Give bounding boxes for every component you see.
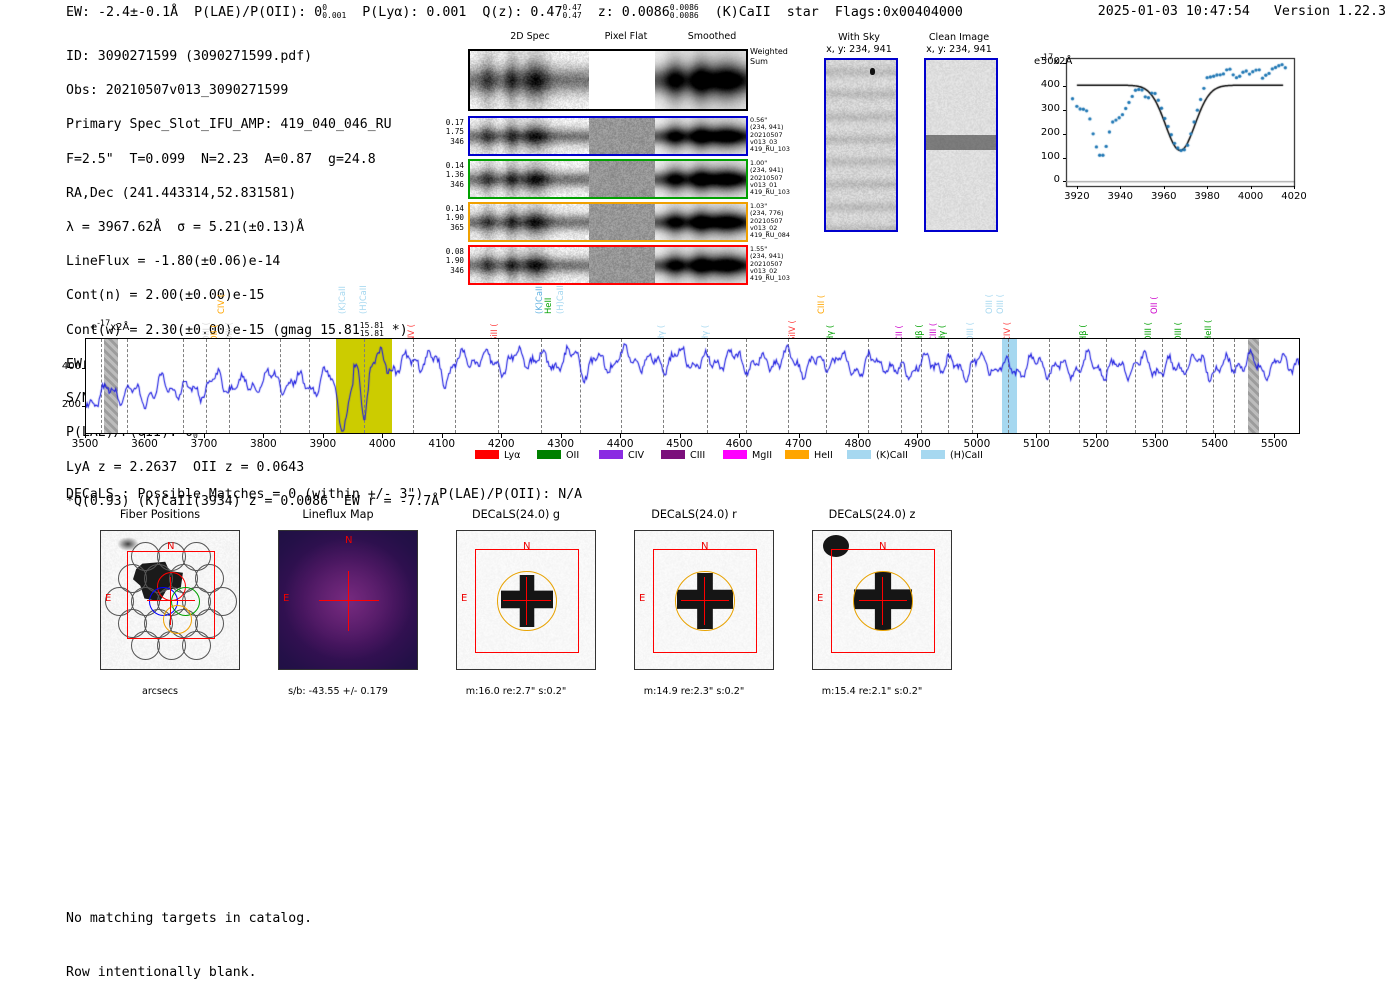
cutout-caption: arcsecs [62,686,258,697]
spec2d-weighted-sum-label: Weighted Sum [750,47,788,67]
spectrum-line-label: (K)CaII [337,286,347,314]
compass-east-label: E [817,593,823,604]
spectrum-axes [85,338,1300,434]
spec2d-panel-metrics: 0.141.36346 [438,161,464,189]
header-timestamp: 2025-01-03 10:47:54 [1098,4,1250,19]
header-z-fraction: 0.00860.0086 [670,4,699,20]
spectrum-y-tick: 200 [51,399,81,410]
spectrum-trace-canvas [86,339,1299,433]
legend-item: HeII [785,450,833,461]
header-line-id: (K)CaII [715,5,771,20]
fit-plot-x-tickmark [1120,186,1121,189]
spectrum-x-tickmark [739,434,740,438]
line-fit-plot: e-17x2Å 01002003004005003920394039603980… [1028,52,1300,212]
cutout-title: Lineflux Map [240,508,436,521]
fit-plot-x-tick: 3980 [1194,191,1219,202]
compass-north-label: N [701,541,708,552]
spec2d-metric-value: 0.17 [438,118,464,127]
crosshair-vertical [704,577,705,625]
fit-plot-y-tickmark [1063,63,1066,64]
spectrum-x-tickmark [204,434,205,438]
spec2d-metric-value: 1.36 [438,170,464,179]
cutout-image: NE-4-4-2-2002244 [456,530,596,670]
fit-plot-y-tick: 500 [1030,56,1060,67]
spectrum-y-tick: 400 [51,361,81,372]
spectrum-units-annotation: e-17x2Å [91,322,129,333]
legend-swatch [723,450,747,459]
fit-plot-x-tick: 3960 [1151,191,1176,202]
legend-swatch [475,450,499,459]
crosshair-horizontal [503,600,551,601]
compass-north-label: N [345,535,352,546]
spec2d-col-title-pixelflat: Pixel Flat [578,31,674,42]
fit-plot-x-tick: 4000 [1238,191,1263,202]
spectrum-line-label: HeII [543,298,553,314]
cutout-title: DECaLS(24.0) g [418,508,614,521]
footer-line-2: Row intentionally blank. [66,964,312,982]
spectrum-line-label: CIV ( [216,294,226,314]
spec2d-panel-metrics: 0.141.90365 [438,204,464,232]
fit-plot-y-tick: 300 [1030,103,1060,114]
footprint-rect [653,549,757,653]
legend-swatch [661,450,685,459]
crosshair-horizontal [147,600,195,601]
fit-plot-y-tick: 400 [1030,79,1060,90]
spectrum-x-tick: 4900 [904,438,931,450]
compass-east-label: E [283,593,289,604]
spectrum-x-tickmark [1215,434,1216,438]
footer-note: No matching targets in catalog. Row inte… [66,874,312,1000]
legend-item: (H)CaII [921,450,983,461]
spectrum-x-tick: 5200 [1082,438,1109,450]
info-seeing-throughput: F=2.5" T=0.099 N=2.23 A=0.87 g=24.8 [66,151,439,168]
fit-plot-x-tick: 4020 [1281,191,1306,202]
fit-plot-x-tickmark [1077,186,1078,189]
cutout-title: DECaLS(24.0) z [774,508,970,521]
clean-image-coords: x, y: 234, 941 [908,44,1010,56]
legend-label: OII [566,450,579,461]
info-id: ID: 3090271599 (3090271599.pdf) [66,48,439,65]
spec2d-panel-meta: 1.03" (234, 776) 20210507 v013_02 419_RU… [750,203,790,239]
legend-swatch [847,450,871,459]
cutout-caption: m:16.0 re:2.7" s:0.2" [418,686,614,697]
spec2d-metric-value: 0.08 [438,247,464,256]
footer-line-1: No matching targets in catalog. [66,910,312,928]
header-z-label: z: 0.0086 [598,5,670,20]
spec2d-metric-value: 0.14 [438,161,464,170]
spectrum-y-tickmark [82,368,85,369]
header-flags: Flags:0x00404000 [835,5,963,20]
spectrum-x-tick: 5100 [1023,438,1050,450]
spec2d-strip-pixelflat [589,204,655,240]
spec2d-strip-smoothed [655,118,746,154]
spec2d-panel-meta: 0.56" (234, 941) 20210507 v013_03 419_RU… [750,117,790,153]
clean-image-title: Clean Image x, y: 234, 941 [908,32,1010,55]
legend-label: Lyα [504,450,520,461]
spectrum-x-tick: 4400 [607,438,634,450]
spectrum-x-tickmark [442,434,443,438]
clean-image [924,58,998,232]
spectrum-line-label: (H)CaII [358,285,368,314]
full-spectrum-plot: OIII (OII (CIV (OIII ((K)CaII(H)CaIINV (… [85,270,1300,450]
spectrum-x-tick: 4700 [785,438,812,450]
spectrum-x-tick: 4100 [428,438,455,450]
spectrum-x-tick: 4500 [666,438,693,450]
legend-label: CIII [690,450,705,461]
cutout-caption: m:15.4 re:2.1" s:0.2" [774,686,970,697]
header-classification: star [787,5,819,20]
with-sky-image [824,58,898,232]
spec2d-strip-smoothed [655,51,746,109]
legend-item: CIV [599,450,644,461]
header-ew: EW: -2.4±-0.1Å [66,5,178,20]
spectrum-x-tick: 4000 [369,438,396,450]
legend-item: OII [537,450,579,461]
spec2d-strip-raw [470,118,589,154]
cutout-image: NE-4-4-2-2002244 [634,530,774,670]
info-lineflux: LineFlux = -1.80(±0.06)e-14 [66,253,439,270]
compass-north-label: N [879,541,886,552]
spectrum-x-tick: 5300 [1142,438,1169,450]
legend-item: Lyα [475,450,520,461]
spec2d-panel-meta: 1.00" (234, 941) 20210507 v013_01 419_RU… [750,160,790,196]
spectrum-x-tickmark [85,434,86,438]
spec2d-strip-pixelflat [589,51,655,109]
spectrum-x-tick: 5400 [1201,438,1228,450]
crosshair-vertical [348,571,349,631]
header-plya: P(Lyα): 0.001 [362,5,466,20]
compass-east-label: E [461,593,467,604]
spectrum-x-tick: 4600 [726,438,753,450]
info-primary-spec-slot: Primary Spec_Slot_IFU_AMP: 419_040_046_R… [66,116,439,133]
compass-east-label: E [105,593,111,604]
legend-item: CIII [661,450,705,461]
cutout-image: NE-4-4-2-2002244 [812,530,952,670]
legend-swatch [537,450,561,459]
spectrum-x-tickmark [1274,434,1275,438]
cutout-caption: m:14.9 re:2.3" s:0.2" [596,686,792,697]
legend-label: MgII [752,450,772,461]
info-obs: Obs: 20210507v013_3090271599 [66,82,439,99]
crosshair-vertical [882,577,883,625]
footprint-rect [127,551,215,639]
spectrum-x-tick: 5500 [1261,438,1288,450]
spec2d-metric-value: 1.75 [438,127,464,136]
header-version: Version 1.22.3 [1274,4,1386,19]
fit-plot-y-tickmark [1063,86,1066,87]
legend-item: (K)CaII [847,450,908,461]
fit-plot-x-tick: 3920 [1064,191,1089,202]
spec2d-metric-value: 346 [438,180,464,189]
spectrum-x-tick: 4200 [488,438,515,450]
spectrum-x-tickmark [1096,434,1097,438]
clean-image-trace [926,135,996,150]
fit-plot-x-tickmark [1207,186,1208,189]
compass-north-label: N [167,541,174,552]
spec2d-panel [468,202,748,242]
spectrum-legend: LyαOIICIVCIIIMgIIHeII(K)CaII(H)CaII [85,450,1300,464]
spectrum-line-label: CIII ( [816,295,826,314]
legend-swatch [921,450,945,459]
spectrum-line-label: OII ( [1149,297,1159,314]
crosshair-vertical [526,577,527,625]
spec2d-col-title-smoothed: Smoothed [664,31,760,42]
spec2d-strip-smoothed [655,204,746,240]
crosshair-horizontal [859,600,907,601]
spectrum-x-tick: 3800 [250,438,277,450]
spec2d-panel [468,159,748,199]
spectrum-x-tick: 5000 [964,438,991,450]
cutout-title: Fiber Positions [62,508,258,521]
spec2d-strip-pixelflat [589,161,655,197]
spec2d-strip-raw [470,51,589,109]
fit-plot-x-tick: 3940 [1108,191,1133,202]
cutout-caption: s/b: -43.55 +/- 0.179 [240,686,436,697]
with-sky-coords: x, y: 234, 941 [808,44,910,56]
spectrum-x-tick: 3500 [72,438,99,450]
spectrum-y-tickmark [82,406,85,407]
header-qz-fraction: 0.470.47 [562,4,581,20]
fit-plot-y-tickmark [1063,181,1066,182]
compass-east-label: E [639,593,645,604]
spectrum-x-tickmark [382,434,383,438]
fit-plot-y-tickmark [1063,134,1066,135]
legend-swatch [785,450,809,459]
fit-plot-x-tickmark [1294,186,1295,189]
spec2d-panel-metrics: 0.171.75346 [438,118,464,146]
spectrum-x-tickmark [263,434,264,438]
header-plae-label: P(LAE)/P(OII): 0 [194,5,322,20]
cosmic-ray-artifact [870,68,875,75]
legend-label: CIV [628,450,644,461]
spectrum-x-tickmark [917,434,918,438]
spec2d-metric-value: 0.14 [438,204,464,213]
legend-item: MgII [723,450,772,461]
spec2d-strip-raw [470,204,589,240]
fit-plot-y-tick: 100 [1030,151,1060,162]
compass-north-label: N [523,541,530,552]
spec2d-metric-value: 1.90 [438,256,464,265]
legend-label: (H)CaII [950,450,983,461]
fit-plot-y-tick: 200 [1030,127,1060,138]
header-summary-line: EW: -2.4±-0.1Å P(LAE)/P(OII): 000.001 P(… [66,4,963,20]
fit-plot-x-tickmark [1164,186,1165,189]
fit-plot-y-tick: 0 [1030,174,1060,185]
spectrum-line-label: (H)CaII [555,285,565,314]
spectrum-x-tickmark [1155,434,1156,438]
spectrum-x-tickmark [501,434,502,438]
spectrum-x-tickmark [1036,434,1037,438]
spectrum-x-tickmark [858,434,859,438]
spectrum-x-tickmark [323,434,324,438]
crosshair-horizontal [681,600,729,601]
header-timestamp-version: 2025-01-03 10:47:54 Version 1.22.3 [1098,4,1386,19]
spec2d-block: 2D Spec Pixel Flat Smoothed 0.171.753460… [438,31,768,259]
header-qz-label: Q(z): 0.47 [482,5,562,20]
info-radec: RA,Dec (241.443314,52.831581) [66,185,439,202]
spectrum-x-tickmark [799,434,800,438]
legend-swatch [599,450,623,459]
footprint-rect [475,549,579,653]
fit-plot-x-tickmark [1251,186,1252,189]
spectrum-x-tickmark [620,434,621,438]
spectrum-x-tickmark [977,434,978,438]
spectrum-x-tick: 3900 [309,438,336,450]
footprint-rect [831,549,935,653]
fit-plot-y-tickmark [1063,110,1066,111]
legend-label: HeII [814,450,833,461]
header-plae-fraction: 00.001 [322,4,346,20]
crosshair-horizontal [319,600,379,601]
legend-label: (K)CaII [876,450,908,461]
spectrum-x-tick: 4300 [547,438,574,450]
info-wavelength-sigma: λ = 3967.62Å σ = 5.21(±0.13)Å [66,219,439,236]
spectrum-x-tick: 3600 [131,438,158,450]
crosshair-vertical [170,577,171,625]
spec2d-panel [468,49,748,111]
cutout-title: DECaLS(24.0) r [596,508,792,521]
decals-header: DECaLS : Possible Matches = 0 (within +/… [66,487,582,502]
spec2d-metric-value: 1.90 [438,213,464,222]
spec2d-strip-pixelflat [589,118,655,154]
spec2d-metric-value: 365 [438,223,464,232]
spectrum-x-tick: 4800 [845,438,872,450]
spectrum-x-tick: 3700 [191,438,218,450]
spectrum-x-tickmark [680,434,681,438]
spec2d-panel [468,116,748,156]
cutout-image: NE-4-4-2-2002244 [100,530,240,670]
spectrum-line-label: OIII ( [995,294,1005,314]
spectrum-x-tickmark [144,434,145,438]
cutout-image: NE-4-4-2-2002244 [278,530,418,670]
spectrum-x-tickmark [561,434,562,438]
spec2d-col-title-2dspec: 2D Spec [482,31,578,42]
fit-plot-y-tickmark [1063,158,1066,159]
spec2d-strip-smoothed [655,161,746,197]
with-sky-title: With Sky x, y: 234, 941 [808,32,910,55]
spec2d-metric-value: 346 [438,137,464,146]
spectrum-line-label: OIII ( [984,294,994,314]
spec2d-strip-raw [470,161,589,197]
